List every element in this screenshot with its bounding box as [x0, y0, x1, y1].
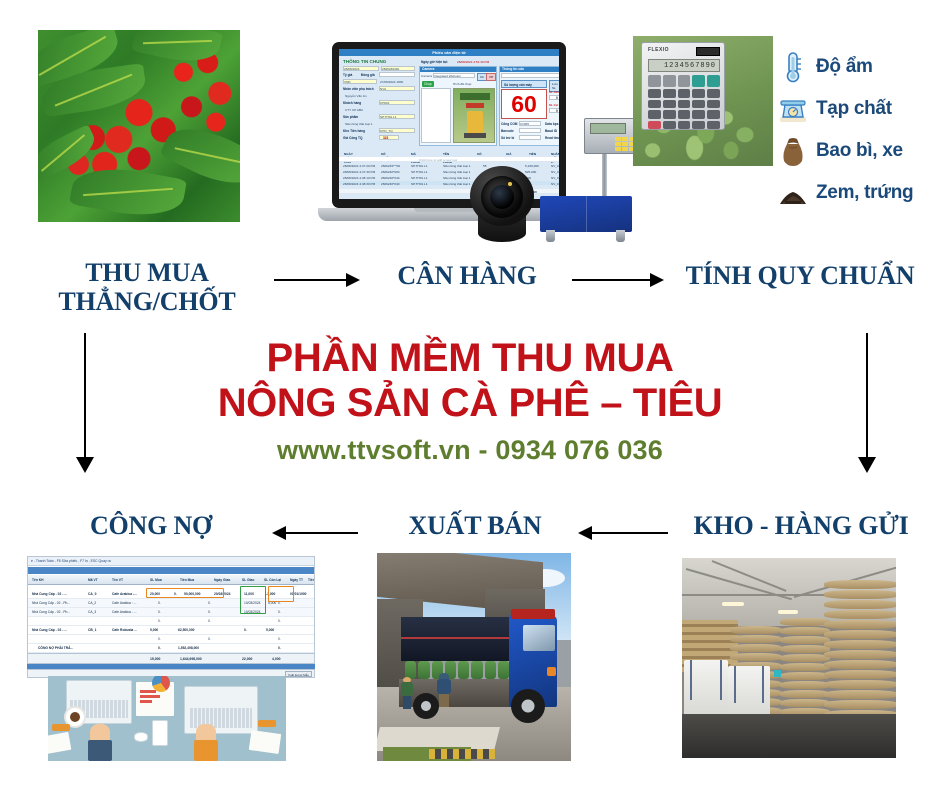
legend-label: Độ ẩm: [816, 56, 873, 78]
col-tien-tt: Tiền TT: [308, 578, 315, 582]
currency-value: VND: [344, 80, 351, 84]
camera-panel-title: Camera: [420, 67, 496, 72]
app-window-title: Phiếu cân điện tử: [339, 49, 559, 56]
table-row: 0. 0. 0.: [28, 617, 314, 626]
highlight-tien-mua: [146, 588, 224, 598]
table-row: Nhà Cung Cấp - 02 - ... CB_1 Cafe Robust…: [28, 626, 314, 635]
col-ngay-tt: Ngày TT: [290, 578, 303, 582]
camera-select-label: Camera: [421, 74, 432, 78]
total-sl-con-lai: 4,000: [272, 657, 281, 661]
arrow-shaft: [274, 279, 347, 282]
barcode-label: Barcode: [501, 129, 514, 133]
page-title-line1: PHẦN MỀM THU MUA: [0, 336, 940, 381]
arrow-right-1: [274, 270, 360, 290]
flow-step-kho-hang-gui: KHO - HÀNG GỬI: [676, 511, 926, 540]
staff-name: Nguyễn Văn An: [345, 94, 367, 98]
total-sl-giao: 22,000: [242, 657, 252, 661]
doc-date-value: 28/08/2024: [344, 67, 359, 71]
tare-no-label: Số trừ bì: [501, 136, 514, 140]
captured-image-label: Hình đã chụp: [453, 82, 471, 86]
com-port-label: Cổng COM: [501, 122, 517, 126]
warehouse-value: KHO_TQ: [380, 129, 393, 133]
flow-step-thu-mua: THU MUA THẲNG/CHỐT: [42, 258, 252, 316]
total-tien-mua: 1,644,998,000: [180, 657, 202, 661]
col-ngay-giao: Ngày Giao: [214, 578, 230, 582]
highlight-sl-giao: [240, 586, 266, 614]
col-sl-mua: SL Mua: [150, 578, 162, 582]
truck-loading-photo: [377, 553, 571, 761]
arrow-shaft: [591, 532, 668, 535]
col-sl-giao: SL Giao: [242, 578, 254, 582]
current-datetime-label: Ngày giờ hiện tại:: [421, 60, 448, 64]
customer-label: Khách hàng: [343, 101, 361, 105]
legend-item: Tạp chất: [778, 90, 940, 128]
product-name: Sầu riêng thái loại 1: [345, 122, 372, 126]
arrow-right-2: [572, 270, 664, 290]
legend-label: Zem, trứng: [816, 182, 913, 204]
price-label: Giá Công TQ: [343, 136, 362, 140]
security-camera: [466, 166, 538, 242]
coffee-cherries-photo: [38, 30, 240, 222]
calculator: FLEXIO 1234567890: [641, 42, 725, 130]
general-info-heading: THÔNG TIN CHUNG: [343, 59, 386, 64]
table-row: Nhà Cung Cấp - 02 - Ph... CA_3 Cafe Arab…: [28, 608, 314, 617]
camera-select-value: Integrated Webcam: [434, 74, 461, 78]
sl-machine-label: SL cân máy: [549, 90, 559, 94]
page-title-line2: NÔNG SẢN CÀ PHÊ – TIÊU: [0, 381, 940, 426]
thermometer-icon: [778, 51, 808, 83]
price-value: 323: [383, 136, 388, 140]
col-ten-vt: Tên VT: [112, 578, 123, 582]
legend-item: Độ ẩm: [778, 48, 940, 86]
warehouse-photo: [682, 558, 896, 758]
exchange-rate-label: Tỷ giá: [343, 73, 352, 77]
infographic-canvas: Phiếu cân điện tử THÔNG TIN CHUNG 28/08/…: [0, 0, 940, 788]
col-ma-vt: Mã VT: [88, 578, 98, 582]
table-row: 0. 0. 0.: [28, 635, 314, 644]
sl-machine-value: 0: [556, 96, 558, 100]
col-sl-con-lai: SL Còn Lại: [264, 578, 281, 582]
product-label: Sản phẩm: [343, 115, 358, 119]
calculator-display: 1234567890: [664, 62, 716, 70]
flow-step-xuat-ban: XUẤT BÁN: [382, 511, 568, 540]
rate-date-value: 27/08/2024 1830: [380, 80, 403, 84]
legend-label: Bao bì, xe: [816, 140, 903, 162]
main-title-block: PHẦN MỀM THU MUA NÔNG SẢN CÀ PHÊ – TIÊU …: [0, 336, 940, 466]
quality-factors-legend: Độ ẩm Tạp chất: [778, 48, 940, 216]
arrow-left-2: [578, 523, 668, 543]
current-datetime-value: 28/08/2024 4:51:30 PM: [457, 60, 489, 64]
flat-price-label: Đồng giá: [361, 73, 375, 77]
total-sl-mua: 15,000: [150, 657, 160, 661]
jute-bag-stack: [824, 580, 896, 722]
bulk-bag: [728, 666, 770, 718]
sack-icon: [778, 135, 808, 167]
legend-label: Tạp chất: [816, 98, 892, 120]
debt-report-screenshot: e - Thanh Toán - F5 Sửa phiếu , F7 In , …: [27, 556, 315, 664]
jute-bag-stack: [780, 618, 830, 722]
weight-panel-title: Thông tin cân: [500, 67, 559, 72]
col-tien-mua: Tiền Mua: [180, 578, 194, 582]
contact-line: www.ttvsoft.vn - 0934 076 036: [0, 435, 940, 466]
table-footer-totals: 15,000 1,644,998,000 22,000 4,000: [28, 653, 314, 663]
customer-code: KH001: [380, 101, 389, 105]
machine-qty-label: Số lượng cân máy: [504, 83, 532, 87]
flow-step-tinh-quy-chuan: TÍNH QUY CHUẨN: [676, 261, 924, 290]
bulk-bag: [684, 660, 728, 716]
arrow-head: [272, 526, 286, 540]
arrow-head: [650, 273, 664, 287]
arrow-left-1: [272, 523, 358, 543]
warehouse-label: Kho Tiền hàng: [343, 129, 365, 133]
doc-no-value: 2606240440: [382, 67, 399, 71]
flow-step-can-hang: CÂN HÀNG: [374, 261, 560, 290]
report-menubar: e - Thanh Toán - F5 Sửa phiếu , F7 In , …: [28, 557, 314, 566]
arrow-shaft: [572, 279, 651, 282]
product-code: SP.TH01.L1: [380, 115, 396, 119]
calculator-beans-photo: FLEXIO 1234567890: [633, 36, 773, 166]
arrow-head: [346, 273, 360, 287]
staff-label: Nhân viên phụ trách: [343, 87, 374, 91]
weighing-scale-icon: [778, 93, 808, 125]
sl-tare-value: 0: [556, 109, 558, 113]
calculator-brand: FLEXIO: [648, 47, 669, 53]
sl-tare-label: SL trừ bì: [549, 103, 559, 107]
grid-add-row-hint[interactable]: Click here to add a new row: [419, 158, 457, 162]
capture-button[interactable]: Chụp: [422, 81, 434, 87]
customer-name: CTY CP ABC: [345, 108, 363, 112]
dirt-pile-icon: [778, 177, 808, 209]
machine-qty-value: 60: [511, 93, 537, 116]
highlight-sl-con-lai: [268, 586, 294, 602]
arrow-shaft: [285, 532, 358, 535]
flow-step-cong-no: CÔNG NỢ: [48, 511, 254, 540]
office-desk-illustration: [48, 676, 286, 761]
col-ten-kh: Tên KH: [32, 578, 44, 582]
legend-item: Zem, trứng: [778, 174, 940, 212]
table-row: CÔNG NỢ PHẢI TRẢ... 0. 1,552,498,000 0.: [28, 644, 314, 653]
com-port-value: COM5: [520, 122, 529, 126]
arrow-head: [578, 526, 592, 540]
report-subbar: [28, 567, 314, 574]
staff-code: NVA: [380, 87, 386, 91]
report-table-header: Tên KH Mã VT Tên VT SL Mua Tiền Mua Ngày…: [28, 575, 314, 585]
camera-off-button[interactable]: Off: [486, 73, 496, 81]
legend-item: Bao bì, xe: [778, 132, 940, 170]
captured-photo: [453, 88, 495, 143]
export-excel-button[interactable]: Xuất Excel Mẫu: [285, 671, 312, 677]
